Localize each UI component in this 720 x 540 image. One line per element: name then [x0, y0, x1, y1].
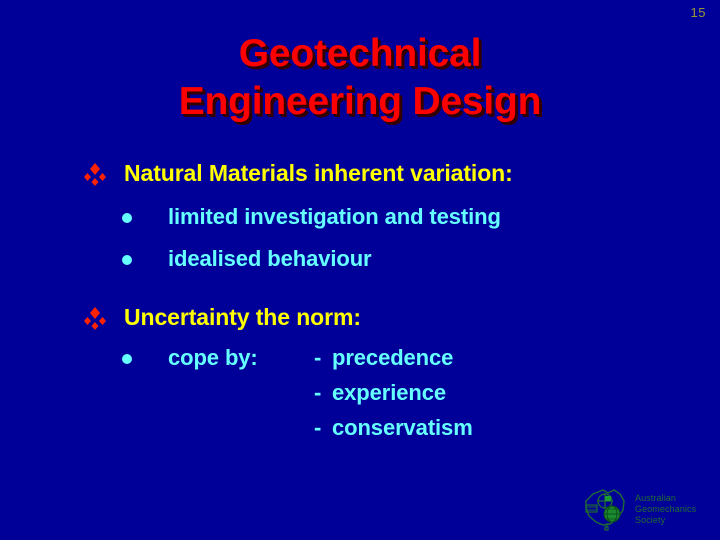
dash-item-conservatism: -conservatism [314, 415, 473, 441]
bullet-item-natural-materials: Natural Materials inherent variation: [84, 160, 513, 186]
australia-map-icon [581, 485, 631, 533]
page-number: 15 [691, 6, 706, 19]
dash-item-experience: -experience [314, 380, 446, 406]
title-line-2: Engineering Design [0, 78, 720, 126]
organisation-name: Australian Geomechanics Society [635, 493, 696, 526]
dash-marker: - [314, 345, 332, 371]
page-title: Geotechnical Engineering Design [0, 30, 720, 126]
bullet-label: Natural Materials inherent variation: [124, 160, 513, 186]
diamond-cluster-icon [84, 161, 106, 187]
dot-icon [122, 255, 132, 265]
dash-marker: - [314, 380, 332, 406]
title-line-1: Geotechnical [0, 30, 720, 78]
bullet-label: Uncertainty the norm: [124, 304, 361, 330]
dash-marker: - [314, 415, 332, 441]
sub-bullet-label: idealised behaviour [168, 246, 372, 272]
dash-label: experience [332, 380, 446, 405]
logo-line-3: Society [635, 515, 696, 526]
dash-label: precedence [332, 345, 453, 370]
sub-bullet-item-cope-by: cope by: [122, 345, 258, 371]
slide-body: Natural Materials inherent variation: li… [0, 160, 720, 480]
logo-line-1: Australian [635, 493, 696, 504]
organisation-logo: Australian Geomechanics Society [581, 484, 711, 534]
logo-line-2: Geomechanics [635, 504, 696, 515]
dot-icon [122, 354, 132, 364]
sub-bullet-item-idealised-behaviour: idealised behaviour [122, 246, 372, 272]
dash-label: conservatism [332, 415, 473, 440]
sub-bullet-label: limited investigation and testing [168, 204, 501, 230]
dash-item-precedence: -precedence [314, 345, 453, 371]
bullet-item-uncertainty-norm: Uncertainty the norm: [84, 304, 361, 330]
diamond-cluster-icon [84, 305, 106, 331]
dot-icon [122, 213, 132, 223]
sub-bullet-item-limited-investigation: limited investigation and testing [122, 204, 501, 230]
sub-bullet-label: cope by: [168, 345, 258, 371]
slide-canvas: 15 Geotechnical Engineering Design Natur… [0, 0, 720, 540]
